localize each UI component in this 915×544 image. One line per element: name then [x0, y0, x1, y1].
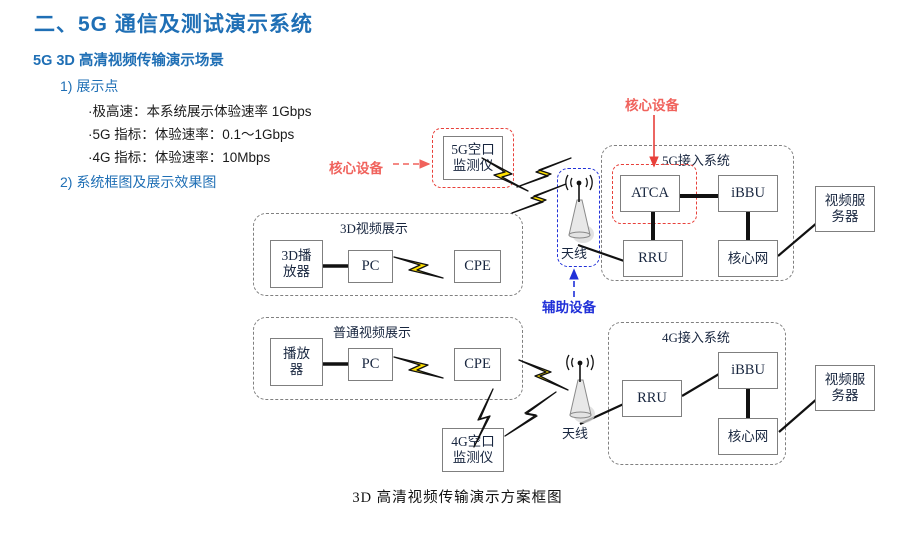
bolt-icon-7 — [474, 389, 493, 447]
bolt-icon-8 — [505, 392, 556, 436]
antenna-label-top: 天线 — [561, 243, 587, 262]
annotation-aux-equipment: 辅助设备 — [542, 296, 596, 316]
antenna-label-bottom: 天线 — [562, 423, 588, 442]
bolt-icon-2 — [512, 184, 566, 213]
bolt-icon-1 — [394, 257, 443, 278]
annotation-core-equipment-top: 核心设备 — [625, 94, 679, 114]
wireless-link-bolts — [0, 0, 915, 544]
bolt-icon-3 — [517, 158, 571, 187]
annotation-core-equipment-left: 核心设备 — [329, 157, 383, 177]
bolt-icon-5 — [394, 357, 443, 378]
bolt-icon-6 — [519, 360, 568, 390]
